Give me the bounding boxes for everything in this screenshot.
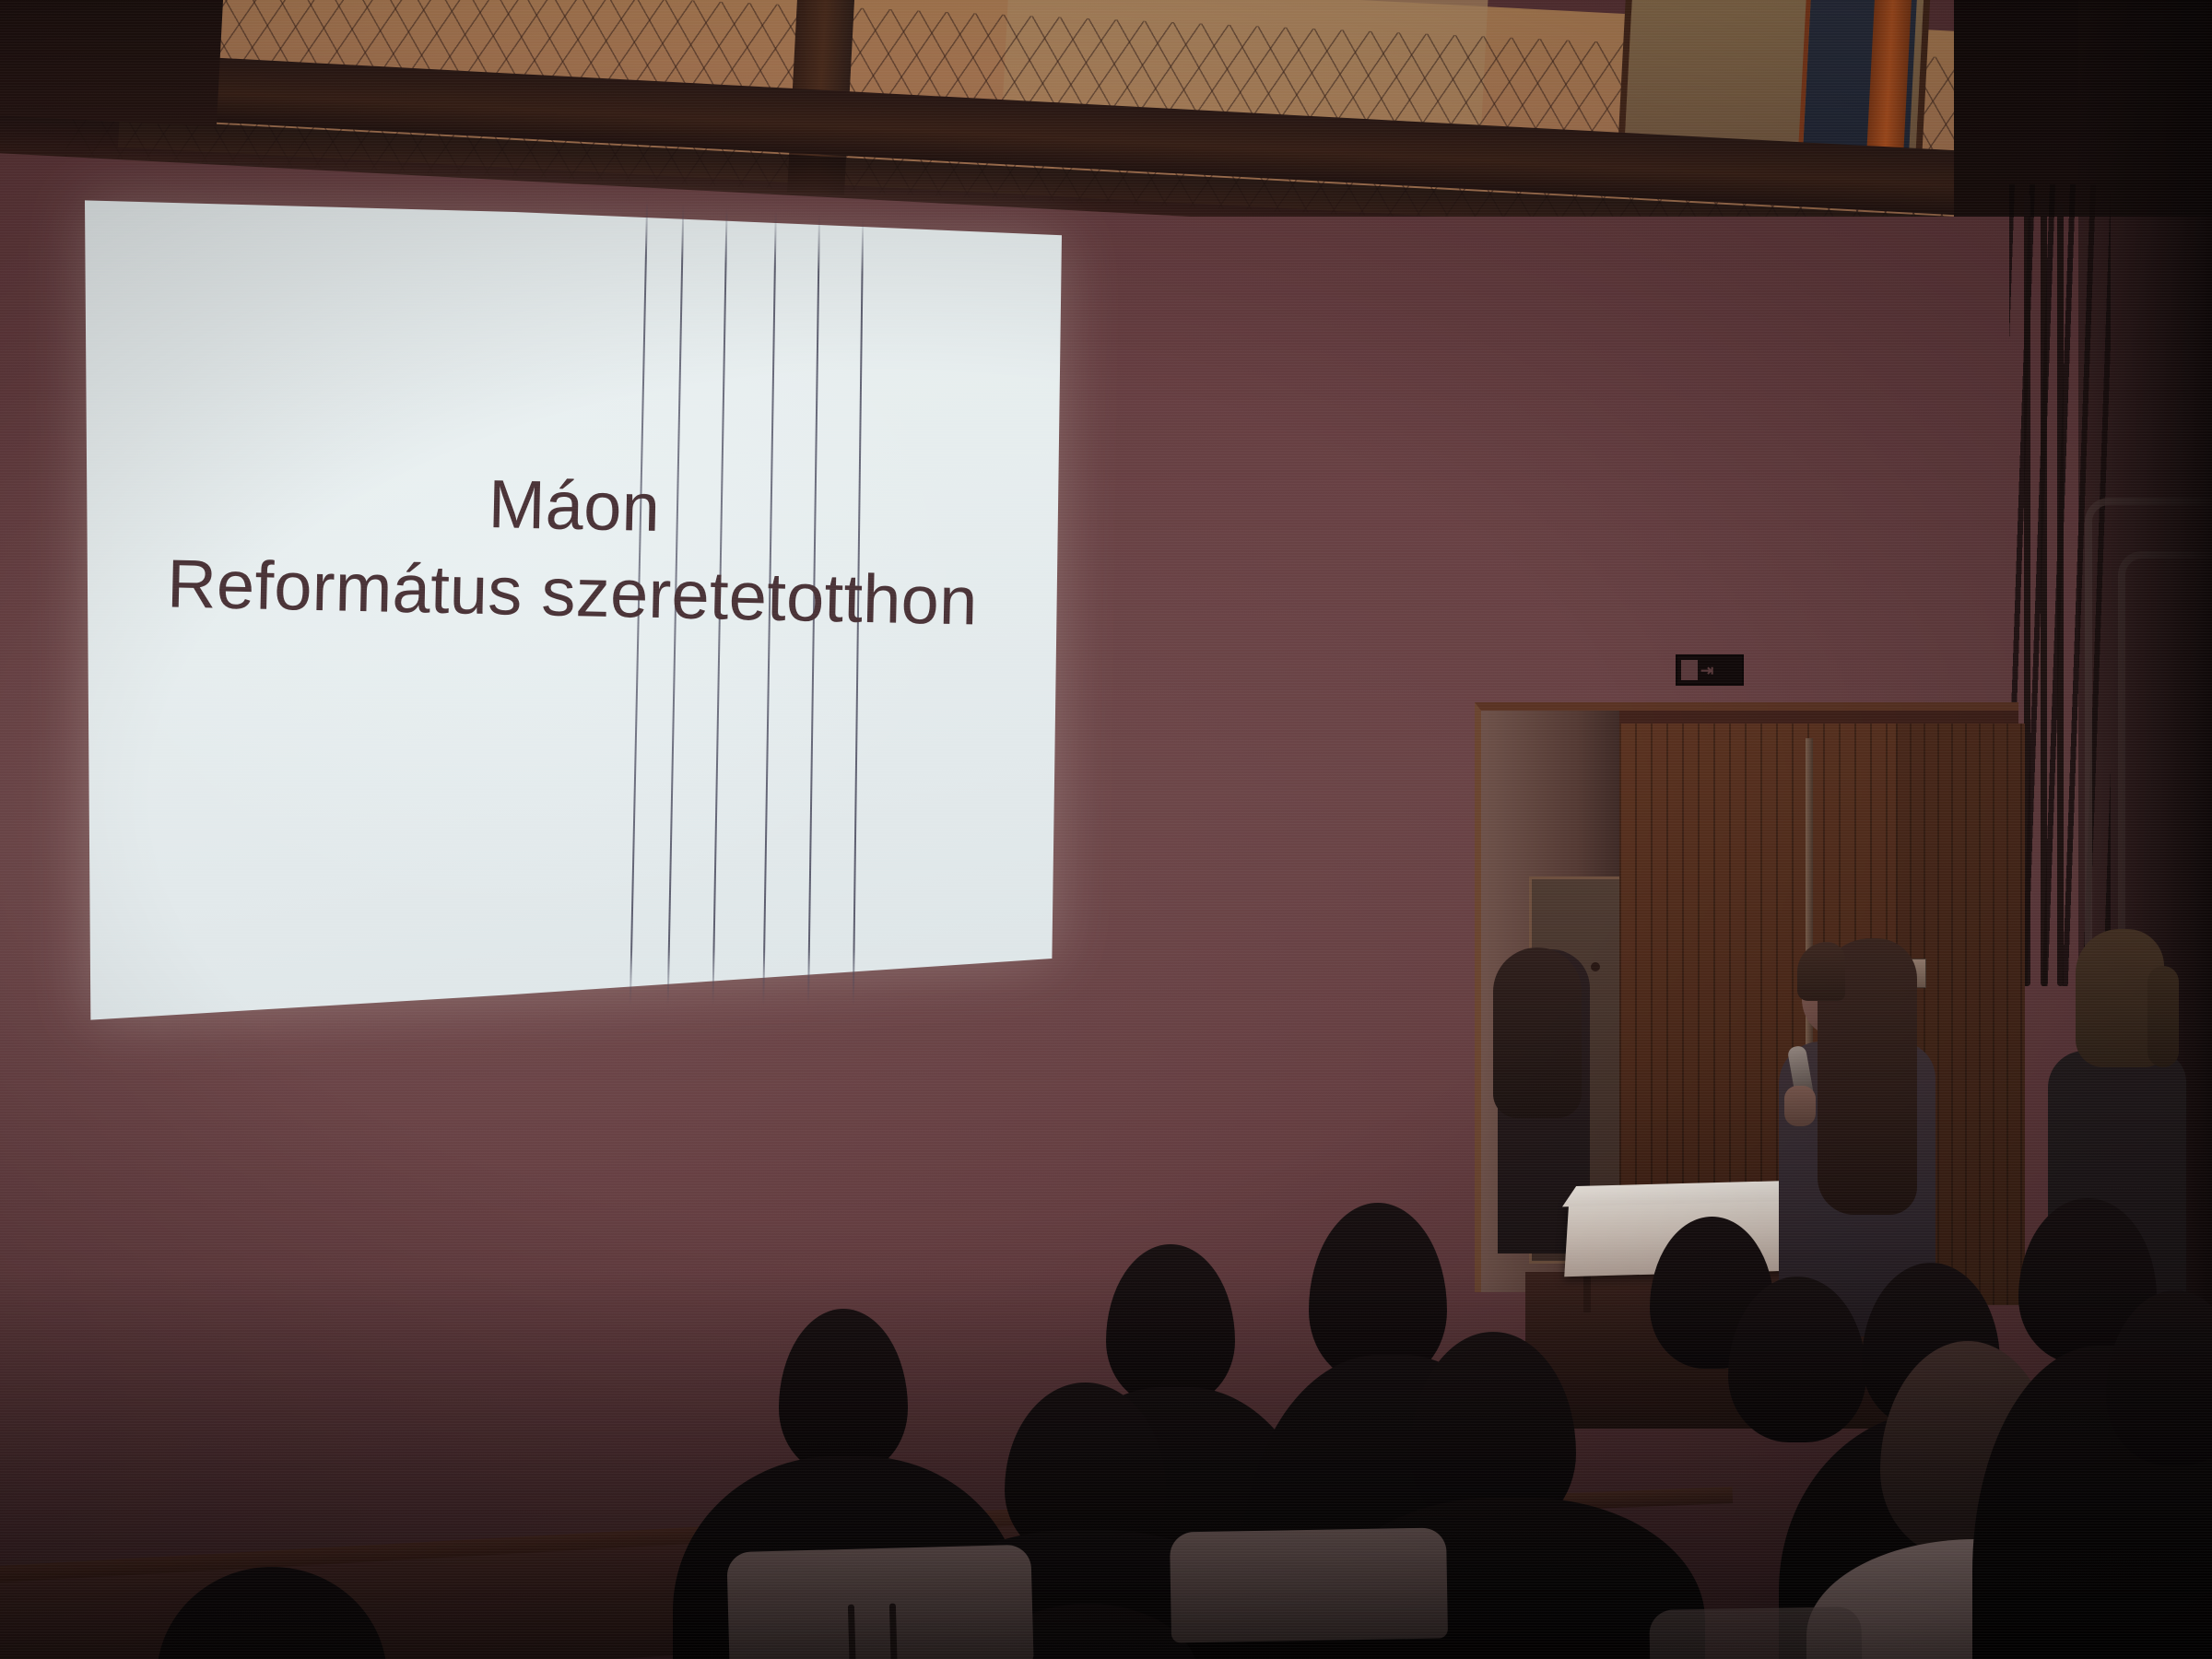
plastic-chair bbox=[726, 1545, 1033, 1659]
second-presenter-ponytail bbox=[2147, 966, 2179, 1067]
exit-sign-arrow-icon: ⇥ bbox=[1700, 663, 1712, 678]
photo-scene: Máon Református szeretetotthon ⇥ bbox=[0, 0, 2212, 1659]
upper-dark-corner-left bbox=[0, 0, 226, 127]
person-in-doorway-hair bbox=[1493, 947, 1582, 1118]
plastic-chair bbox=[1170, 1527, 1448, 1642]
presenter-hand bbox=[1784, 1086, 1816, 1126]
slide-text-block: Máon Református szeretetotthon bbox=[83, 453, 1064, 645]
wall-cable bbox=[2041, 198, 2047, 986]
exit-sign-pictogram bbox=[1681, 660, 1698, 680]
wall-cable bbox=[2057, 203, 2064, 986]
wall-cable bbox=[2024, 194, 2030, 986]
table-leg bbox=[1583, 1270, 1591, 1312]
exit-sign: ⇥ bbox=[1676, 654, 1744, 686]
upper-gym-band bbox=[0, 0, 2212, 217]
presenter-hair-front bbox=[1797, 942, 1845, 1001]
plastic-chair bbox=[1649, 1606, 1863, 1659]
projection-screen: Máon Református szeretetotthon bbox=[85, 195, 1062, 1025]
